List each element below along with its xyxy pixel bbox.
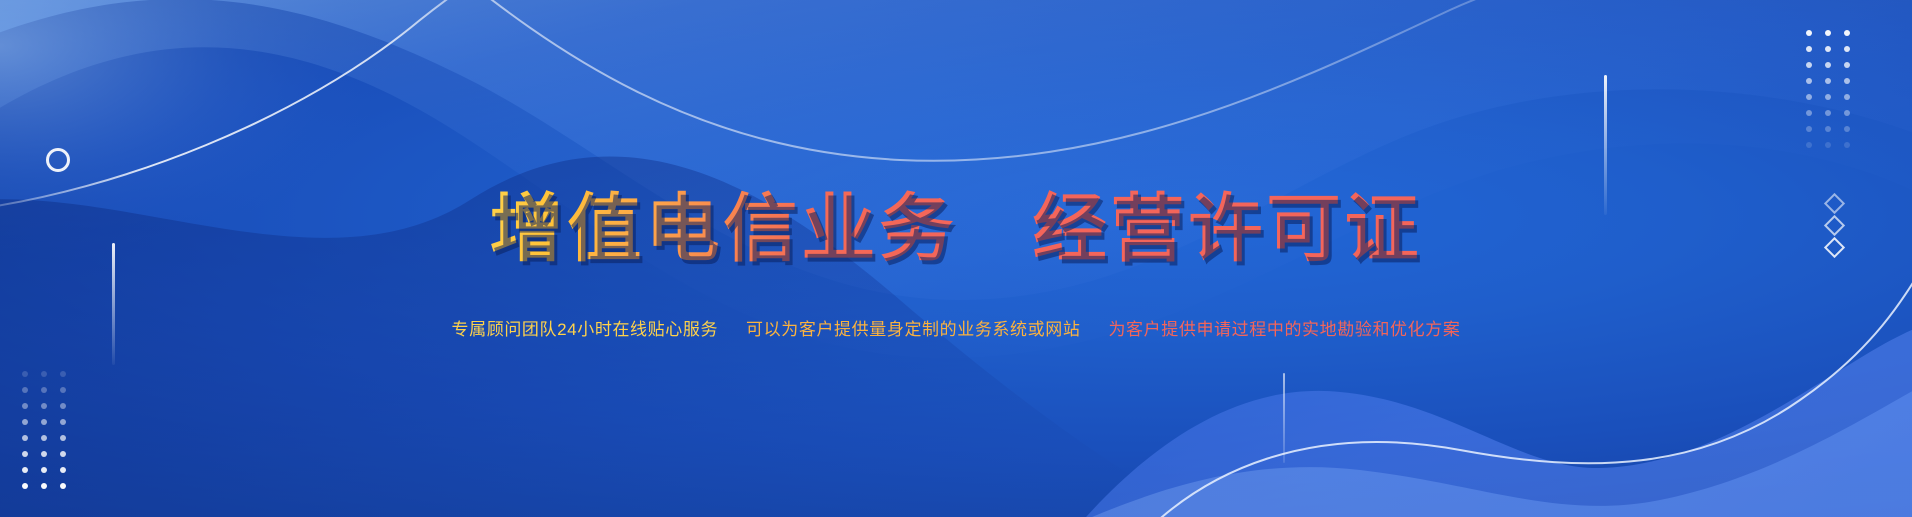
banner-title-part2: 经营许可证 (1033, 187, 1423, 270)
subtitle-item-2: 可以为客户提供量身定制的业务系统或网站 (746, 315, 1080, 340)
banner-subtitle: 专属顾问团队24小时在线贴心服务 可以为客户提供量身定制的业务系统或网站 为客户… (452, 315, 1461, 340)
subtitle-item-1: 专属顾问团队24小时在线贴心服务 (452, 315, 719, 340)
promo-banner: 增值电信业务 经营许可证 专属顾问团队24小时在线贴心服务 可以为客户提供量身定… (0, 0, 1912, 517)
banner-title: 增值电信业务 经营许可证 (489, 191, 1422, 268)
banner-title-part1: 增值电信业务 (489, 187, 957, 270)
subtitle-item-3: 为客户提供申请过程中的实地勘验和优化方案 (1108, 315, 1460, 340)
banner-content: 增值电信业务 经营许可证 专属顾问团队24小时在线贴心服务 可以为客户提供量身定… (0, 0, 1912, 517)
